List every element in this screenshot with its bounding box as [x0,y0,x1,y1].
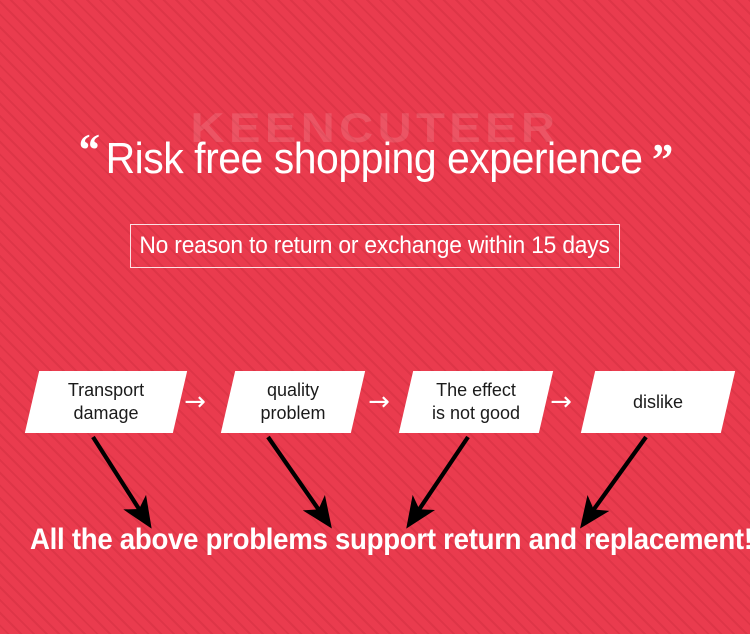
flow-connector-arrow-icon: → [546,389,576,415]
flow-node-dislike: dislike [581,371,735,433]
flow-node-transport-damage: Transportdamage [25,371,187,433]
flow-node-label: The effectis not good [406,371,546,433]
flow-node-label: qualityproblem [228,371,358,433]
down-arrow-1-icon [93,437,148,523]
return-policy-box: No reason to return or exchange within 1… [130,224,620,268]
promo-banner: KEENCUTEER “Risk free shopping experienc… [0,0,750,634]
flow-node-effect-not-good: The effectis not good [399,371,553,433]
reason-flow-row: Transportdamage → qualityproblem → The e… [0,371,750,433]
open-quote-icon: “ [79,124,99,175]
flow-connector-arrow-icon: → [364,389,394,415]
flow-node-label: dislike [588,371,728,433]
page-title: “Risk free shopping experience” [26,124,724,186]
down-arrow-4-icon [584,437,646,523]
flow-connector-arrow-icon: → [180,389,210,415]
page-title-text: Risk free shopping experience [106,134,643,183]
flow-node-label: Transportdamage [32,371,180,433]
down-arrow-3-icon [410,437,468,523]
down-arrow-2-icon [268,437,328,523]
flow-node-quality-problem: qualityproblem [221,371,365,433]
close-quote-icon: ” [652,134,672,185]
return-policy-text: No reason to return or exchange within 1… [140,232,610,260]
footer-guarantee-text: All the above problems support return an… [30,520,720,560]
